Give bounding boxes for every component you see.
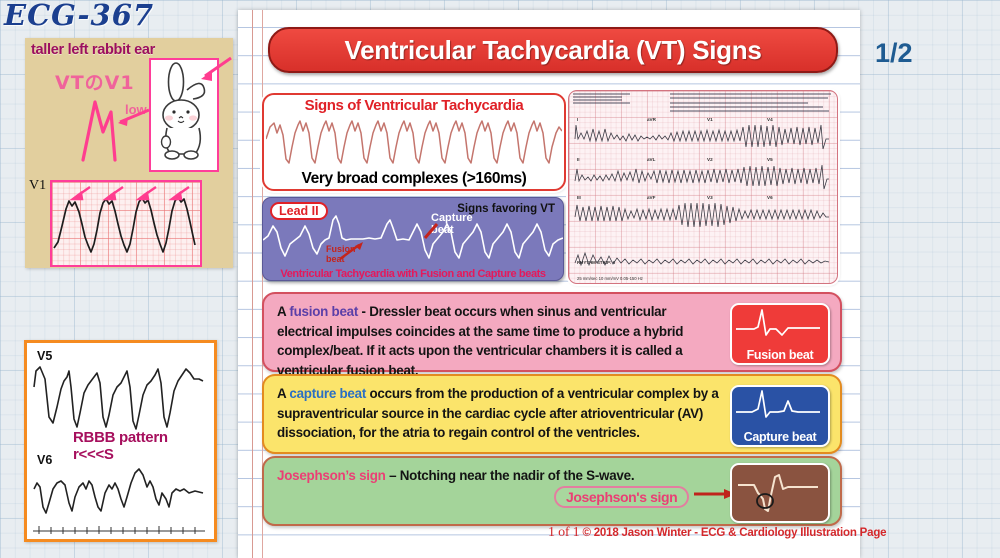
lead2-fusion-capture-panel: Lead II Signs favoring VT Capture beat F… [262, 197, 564, 281]
twelve-lead-ecg-printout: I aVR V1 V4 II aVL V2 V5 III aVF V3 V6 R… [568, 90, 838, 284]
fusion-beat-term: fusion beat [289, 304, 358, 319]
taller-ear-arrow-icon [193, 54, 233, 86]
ecg-trace-row-1 [573, 119, 831, 153]
ecg-number-heading: ECG-367 [4, 0, 154, 32]
fusion-beat-pointer-icon [337, 240, 365, 262]
fusion-beat-thumbnail: Fusion beat [730, 303, 830, 365]
lead2-waveform [263, 214, 563, 266]
rhythm-strip-settings: 25 mm/sec 10 mm/mV 0.05-150 Hz [577, 276, 643, 281]
lead2-panel-caption: Ventricular Tachycardia with Fusion and … [263, 268, 563, 280]
capture-beat-thumb-label: Capture beat [732, 430, 828, 444]
signs-of-vt-box: Signs of Ventricular Tachycardia Very br… [262, 93, 566, 191]
footer-page-count: 1 of 1 [548, 525, 579, 540]
josephson-sign-pill: Josephson's sign [554, 486, 689, 508]
broad-complex-waveform [266, 113, 562, 169]
josephson-sign-row: Josephson’s sign – Notching near the nad… [262, 456, 842, 526]
v5-waveform [31, 357, 207, 437]
v1-ecg-strip [50, 180, 202, 267]
rbbb-line2: r<<<S [73, 446, 114, 463]
rbbb-line1: RBBB pattern [73, 429, 168, 446]
capture-beat-text: A capture beat occurs from the productio… [277, 384, 723, 443]
signs-of-vt-title: Signs of Ventricular Tachycardia [264, 97, 564, 114]
capture-beat-thumbnail: Capture beat [730, 385, 830, 447]
josephson-text: Josephson’s sign – Notching near the nad… [277, 466, 707, 486]
ecg-calibration-ticks [33, 525, 205, 535]
rabbit-ear-panel: taller left rabbit ear VTのV1 low [25, 38, 233, 268]
capture-lead-in: A [277, 386, 289, 401]
broad-complex-caption: Very broad complexes (>160ms) [264, 170, 564, 188]
capture-beat-row: A capture beat occurs from the productio… [262, 374, 842, 454]
copyright-footer: 1 of 1 © 2018 Jason Winter - ECG & Cardi… [548, 525, 886, 541]
rabbit-ear-title: taller left rabbit ear [31, 42, 155, 58]
josephson-body: – Notching near the nadir of the S-wave. [386, 468, 635, 483]
fusion-beat-row: A fusion beat - Dressler beat occurs whe… [262, 292, 842, 372]
josephson-term: Josephson’s sign [277, 468, 386, 483]
josephson-sign-thumbnail [730, 463, 830, 523]
slide-title-banner: Ventricular Tachycardia (VT) Signs [268, 27, 838, 73]
page-indicator: 1/2 [875, 38, 913, 69]
capture-beat-waveform [732, 387, 824, 427]
fusion-beat-text: A fusion beat - Dressler beat occurs whe… [277, 302, 723, 380]
v1-peak-arrows-icon [58, 184, 198, 206]
josephson-notch-waveform [732, 465, 824, 521]
rbbb-pattern-box: V5 RBBB pattern r<<<S V6 [24, 340, 217, 542]
rbbb-annotation: RBBB pattern r<<<S [73, 429, 168, 463]
slide-title: Ventricular Tachycardia (VT) Signs [344, 35, 761, 66]
ecg-trace-row-3 [573, 197, 831, 231]
rhythm-strip-waveform [573, 245, 831, 271]
ecg-report-header [573, 93, 833, 115]
fusion-beat-waveform [732, 305, 824, 345]
v1-lead-label: V1 [29, 178, 46, 194]
rabbit-ear-qrs-sketch [75, 86, 155, 166]
fusion-lead-in: A [277, 304, 289, 319]
capture-beat-term: capture beat [289, 386, 366, 401]
fusion-beat-thumb-label: Fusion beat [732, 348, 828, 362]
footer-copyright: © 2018 Jason Winter - ECG & Cardiology I… [582, 527, 886, 539]
v6-waveform [31, 463, 207, 523]
ecg-trace-row-2 [573, 159, 831, 193]
paper-margin-line-1 [252, 10, 253, 558]
capture-beat-pointer-icon [421, 222, 441, 240]
